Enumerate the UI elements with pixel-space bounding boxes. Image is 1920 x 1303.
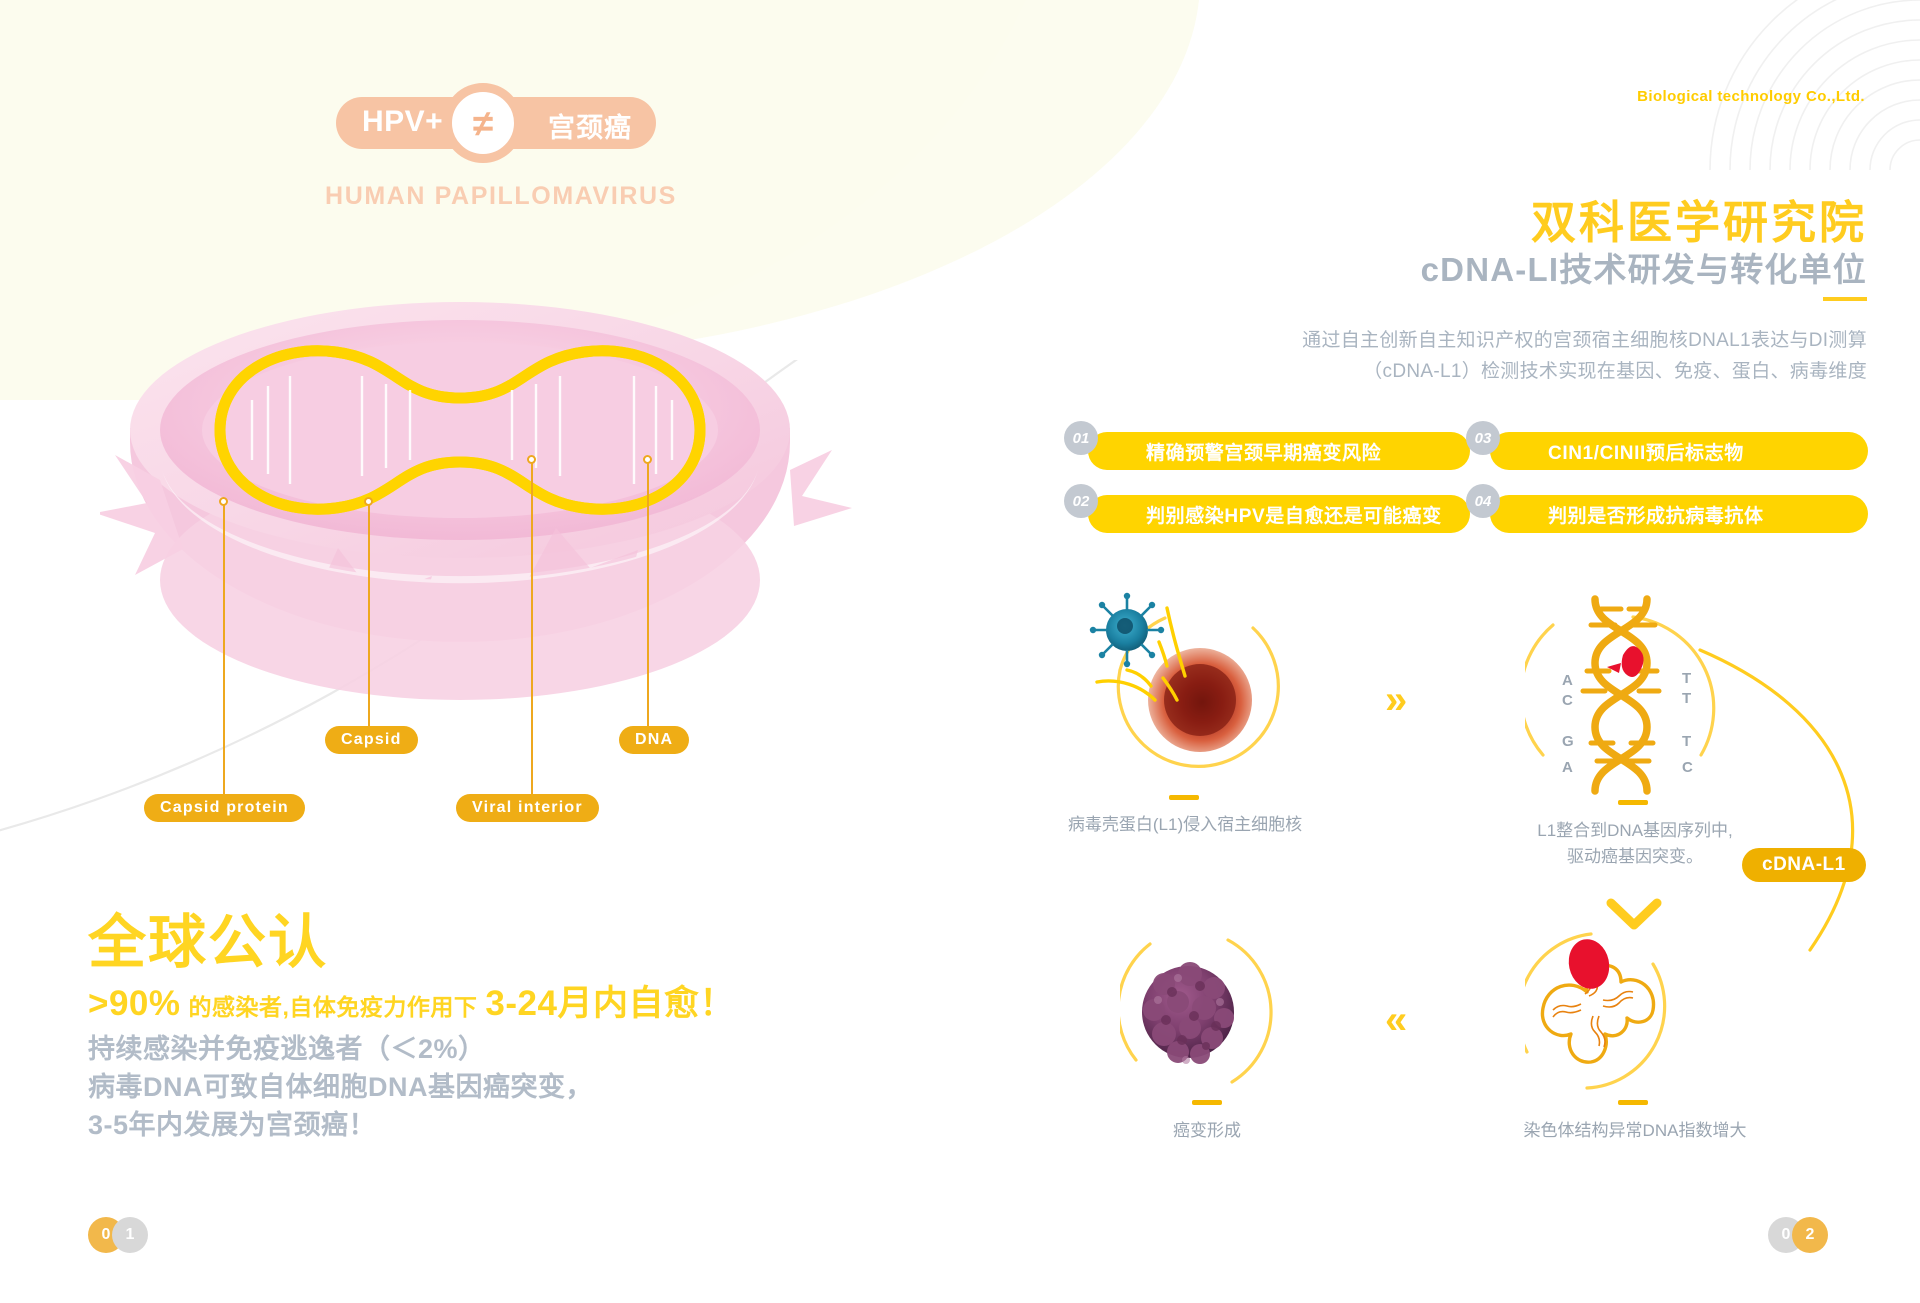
hpv-badge-label: HPV+ [362, 105, 443, 139]
pin-line-capsid [368, 504, 370, 726]
dna-base-right-4: C [1682, 759, 1693, 776]
claim-body-line1: 持续感染并免疫逃逸者（＜2%） [88, 1030, 593, 1068]
feature-number-04: 04 [1466, 484, 1500, 518]
step2-caption-line1: L1整合到DNA基因序列中, [1495, 818, 1775, 844]
claim-body-line3: 3-5年内发展为宫颈癌！ [88, 1106, 593, 1144]
feature-number-03: 03 [1466, 421, 1500, 455]
step1-caption: 病毒壳蛋白(L1)侵入宿主细胞核 [1050, 812, 1320, 838]
feature-label-03: CIN1/CINII预后标志物 [1490, 438, 1744, 465]
feature-label-02: 判别感染HPV是自愈还是可能癌变 [1088, 501, 1442, 528]
label-capsid-protein: Capsid protein [144, 794, 305, 822]
step3-chromosome-illustration [1525, 930, 1740, 1115]
dna-base-right-1: T [1682, 670, 1691, 687]
dna-base-left-2: C [1562, 692, 1573, 709]
feature-pill-02[interactable]: 判别感染HPV是自愈还是可能癌变 [1088, 495, 1470, 533]
feature-label-01: 精确预警宫颈早期癌变风险 [1088, 438, 1381, 465]
claim-statistic-line: >90% 的感染者,自体免疫力作用下 3-24月内自愈！ [88, 975, 735, 1026]
institute-description-line2: （cDNA-L1）检测技术实现在基因、免疫、蛋白、病毒维度 [1302, 356, 1867, 387]
page-number-left: 0 1 [88, 1217, 178, 1253]
feature-pill-03[interactable]: CIN1/CINII预后标志物 [1490, 432, 1868, 470]
claim-duration: 3-24月内自愈！ [485, 975, 735, 1026]
page-right-digit2: 2 [1792, 1217, 1828, 1253]
not-equal-glyph: ≠ [452, 96, 514, 152]
claim-body-line2: 病毒DNA可致自体细胞DNA基因癌突变， [88, 1068, 593, 1106]
dna-base-right-3: T [1682, 733, 1691, 750]
feature-pill-01[interactable]: 精确预警宫颈早期癌变风险 [1088, 432, 1470, 470]
title-divider [1823, 297, 1867, 301]
step4-dash [1192, 1100, 1222, 1105]
arrow-down-icon [1603, 895, 1665, 935]
label-dna: DNA [619, 726, 689, 754]
claim-body: 持续感染并免疫逃逸者（＜2%） 病毒DNA可致自体细胞DNA基因癌突变， 3-5… [88, 1030, 593, 1144]
company-name: Biological technology Co.,Ltd. [1637, 88, 1865, 105]
dna-base-left-1: A [1562, 672, 1573, 689]
institute-subtitle: cDNA-LI技术研发与转化单位 [1421, 243, 1867, 291]
institute-title: 双科医学研究院 [1531, 186, 1867, 251]
dna-base-right-2: T [1682, 690, 1691, 707]
pin-line-dna [647, 462, 649, 726]
step4-tumor-illustration [1120, 930, 1310, 1115]
step1-virus-cell-illustration [1085, 590, 1315, 805]
arrow-right-icon: » [1385, 680, 1407, 720]
step3-caption: 染色体结构异常DNA指数增大 [1490, 1118, 1780, 1144]
institute-description: 通过自主创新自主知识产权的宫颈宿主细胞核DNAL1表达与DI测算 （cDNA-L… [1302, 325, 1867, 387]
step2-caption: L1整合到DNA基因序列中, 驱动癌基因突变。 [1495, 818, 1775, 870]
page-left-digit2: 1 [112, 1217, 148, 1253]
institute-description-line1: 通过自主创新自主知识产权的宫颈宿主细胞核DNAL1表达与DI测算 [1302, 325, 1867, 356]
dna-base-left-3: G [1562, 733, 1574, 750]
feature-number-01: 01 [1064, 421, 1098, 455]
claim-percentage: >90% [88, 984, 181, 1024]
step2-dna-helix-illustration [1525, 595, 1740, 805]
pin-line-viral-interior [531, 462, 533, 794]
virus-illustration [100, 280, 860, 700]
cervical-cancer-label: 宫颈癌 [548, 106, 632, 145]
poster-page: HPV+ 宫颈癌 ≠ HUMAN PAPILLOMAVIRUS [0, 0, 1920, 1303]
claim-title: 全球公认 [88, 895, 328, 979]
hpv-subtitle: HUMAN PAPILLOMAVIRUS [306, 182, 696, 211]
step2-dash [1618, 800, 1648, 805]
feature-pill-04[interactable]: 判别是否形成抗病毒抗体 [1490, 495, 1868, 533]
claim-statistic-text: 的感染者,自体免疫力作用下 [189, 988, 478, 1022]
feature-number-02: 02 [1064, 484, 1098, 518]
page-number-right: 0 2 [1742, 1217, 1832, 1253]
step4-caption: 癌变形成 [1092, 1118, 1322, 1144]
step3-dash [1618, 1100, 1648, 1105]
label-capsid: Capsid [325, 726, 418, 754]
label-viral-interior: Viral interior [456, 794, 599, 822]
cdna-l1-tag: cDNA-L1 [1742, 848, 1866, 882]
pin-line-capsid-protein [223, 504, 225, 794]
step1-dash [1169, 795, 1199, 800]
feature-label-04: 判别是否形成抗病毒抗体 [1490, 501, 1764, 528]
step2-caption-line2: 驱动癌基因突变。 [1495, 844, 1775, 870]
arrow-left-icon: « [1385, 1000, 1407, 1040]
not-equal-icon: ≠ [443, 83, 523, 163]
dna-base-left-4: A [1562, 759, 1573, 776]
